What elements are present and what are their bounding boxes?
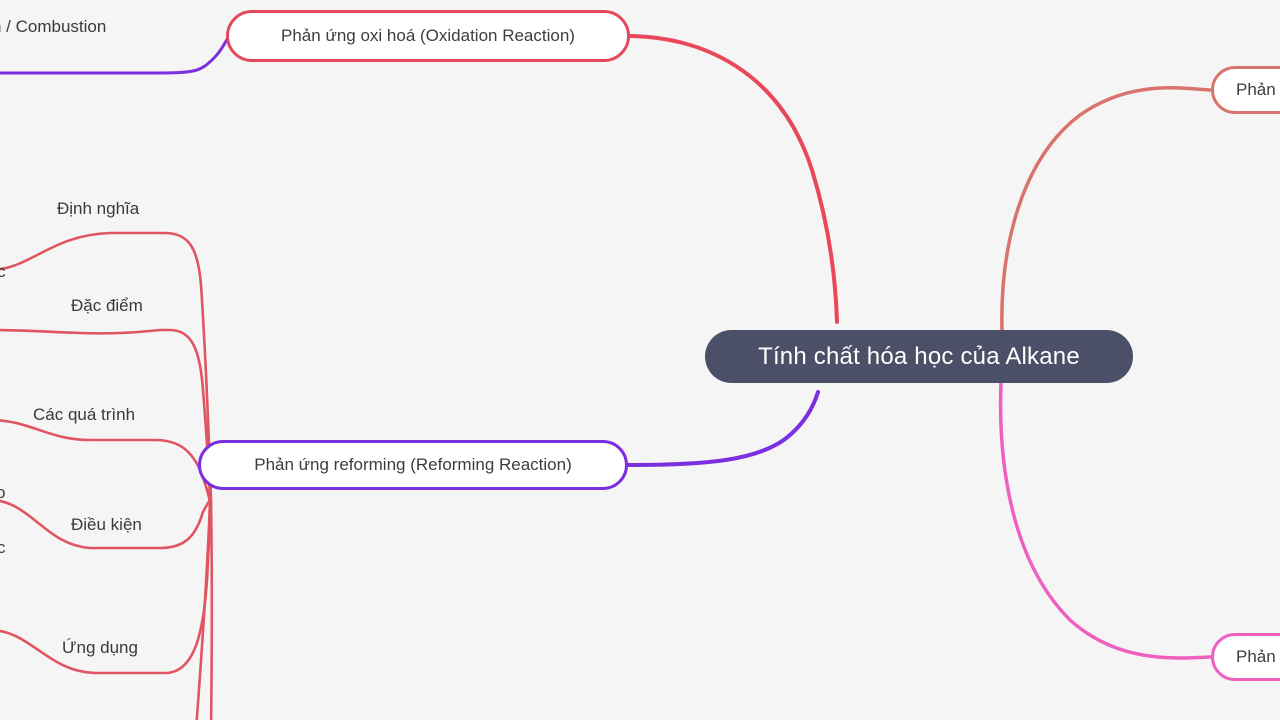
branch-label-cac-qua-trinh: Các quá trình bbox=[33, 405, 135, 425]
edge-branch-cac-qua-trinh bbox=[0, 420, 210, 502]
edge-root-to-bottom-right bbox=[1001, 382, 1210, 658]
mindmap-canvas: Tính chất hóa học của Alkane Phản ứng ox… bbox=[0, 0, 1280, 720]
clipped-fragment-1: c bbox=[0, 262, 6, 282]
node-top-right-clipped[interactable]: Phản bbox=[1211, 66, 1280, 114]
branch-label-dac-diem: Đặc điểm bbox=[71, 296, 143, 316]
edge-combustion-to-oxidation bbox=[0, 38, 228, 73]
node-reforming-reaction[interactable]: Phản ứng reforming (Reforming Reaction) bbox=[198, 440, 628, 490]
root-node[interactable]: Tính chất hóa học của Alkane bbox=[705, 330, 1133, 383]
node-bottom-right-clipped-label: Phản bbox=[1236, 647, 1276, 667]
branch-label-ung-dung: Ứng dụng bbox=[62, 638, 138, 658]
clipped-fragment-2: i bbox=[0, 320, 1, 340]
branch-label-dinh-nghia: Định nghĩa bbox=[57, 199, 139, 219]
clipped-fragment-4: c bbox=[0, 538, 6, 558]
edge-reforming-to-root bbox=[628, 392, 818, 465]
edge-branch-bundle-tail-a bbox=[196, 500, 210, 720]
clipped-fragment-3: o bbox=[0, 483, 5, 503]
edge-branch-bundle-tail-b bbox=[211, 500, 212, 720]
edge-oxidation-to-root bbox=[628, 36, 837, 322]
node-top-right-clipped-label: Phản bbox=[1236, 80, 1276, 100]
branch-label-combustion: n / Combustion bbox=[0, 17, 106, 37]
branch-label-dieu-kien: Điều kiện bbox=[71, 515, 142, 535]
edge-root-to-top-right bbox=[1002, 88, 1210, 330]
node-bottom-right-clipped[interactable]: Phản bbox=[1211, 633, 1280, 681]
node-oxidation-reaction[interactable]: Phản ứng oxi hoá (Oxidation Reaction) bbox=[226, 10, 630, 62]
edge-branch-dinh-nghia bbox=[0, 233, 211, 500]
node-reforming-reaction-label: Phản ứng reforming (Reforming Reaction) bbox=[254, 455, 572, 475]
root-node-label: Tính chất hóa học của Alkane bbox=[758, 343, 1080, 371]
node-oxidation-reaction-label: Phản ứng oxi hoá (Oxidation Reaction) bbox=[281, 26, 575, 46]
